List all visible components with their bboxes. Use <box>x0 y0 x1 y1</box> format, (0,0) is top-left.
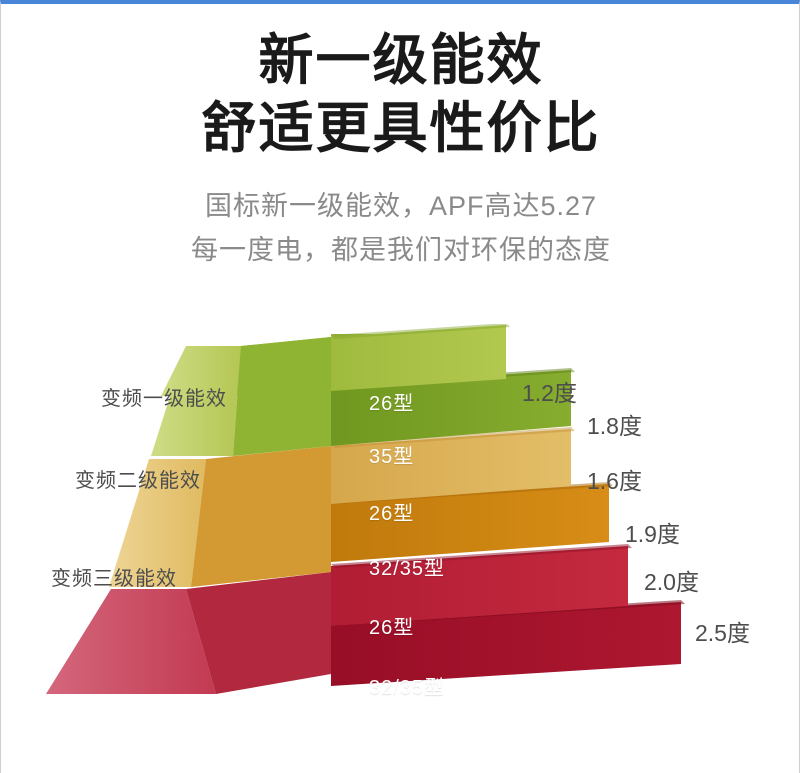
value-label-t1-35: 1.8度 <box>587 407 642 441</box>
bar-model-label-t3-26: 26型 <box>369 611 414 640</box>
page-title-line-2: 舒适更具性价比 <box>1 94 800 162</box>
value-label-t2-26: 1.6度 <box>587 462 642 496</box>
page-title-line-1: 新一级能效 <box>1 26 800 94</box>
bar-model-label-t2-26: 26型 <box>369 497 414 526</box>
bar-model-label-t1-35: 35型 <box>369 440 414 469</box>
category-label-tier-2: 变频二级能效 <box>75 464 201 493</box>
page-root: 新一级能效 舒适更具性价比 国标新一级能效，APF高达5.27 每一度电，都是我… <box>0 0 800 773</box>
bar-model-label-t1-26: 26型 <box>369 387 414 416</box>
subtitle-block: 国标新一级能效，APF高达5.27 每一度电，都是我们对环保的态度 <box>1 184 800 272</box>
value-label-t1-26: 1.2度 <box>522 374 577 408</box>
value-label-t3-26: 2.0度 <box>644 563 699 597</box>
tier-2-front-face <box>191 446 331 587</box>
category-label-tier-3: 变频三级能效 <box>51 562 177 591</box>
header: 新一级能效 舒适更具性价比 国标新一级能效，APF高达5.27 每一度电，都是我… <box>1 26 800 272</box>
value-label-t3-3235: 2.5度 <box>695 614 750 648</box>
value-label-t2-3235: 1.9度 <box>625 515 680 549</box>
apex-front-face <box>237 337 331 396</box>
bar-model-label-t3-3235: 32/35型 <box>369 671 445 700</box>
subtitle-line-1: 国标新一级能效，APF高达5.27 <box>1 184 800 228</box>
subtitle-line-2: 每一度电，都是我们对环保的态度 <box>1 228 800 272</box>
energy-efficiency-pyramid-chart: 变频一级能效 变频二级能效 变频三级能效 26型 35型 26型 32/35型 … <box>1 334 800 734</box>
bar-model-label-t2-3235: 32/35型 <box>369 552 445 581</box>
category-label-tier-1: 变频一级能效 <box>101 382 227 411</box>
